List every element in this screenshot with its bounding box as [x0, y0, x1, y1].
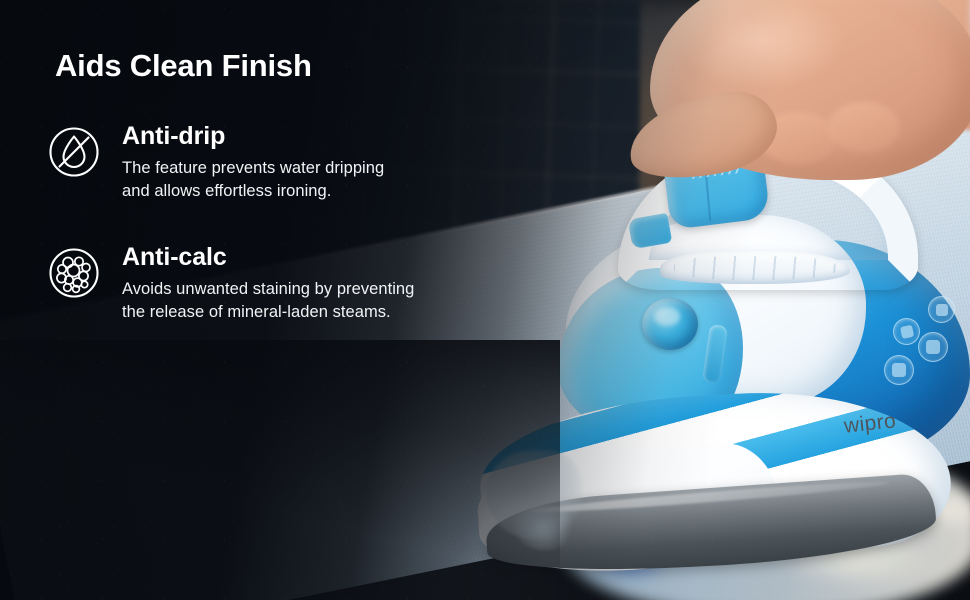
feature-title: Anti-calc [122, 243, 414, 271]
feature-text: Anti-calc Avoids unwanted staining by pr… [122, 243, 414, 325]
feature-item-anti-drip: Anti-drip The feature prevents water dri… [48, 122, 384, 204]
product-feature-banner: wipro Aids Clean Finish [0, 0, 970, 600]
feature-item-anti-calc: Anti-calc Avoids unwanted staining by pr… [48, 243, 414, 325]
feature-text: Anti-drip The feature prevents water dri… [122, 122, 384, 204]
feature-description: Avoids unwanted staining by preventing t… [122, 278, 414, 325]
feature-description: The feature prevents water dripping and … [122, 157, 384, 204]
limescale-bubbles-icon [48, 247, 100, 299]
feature-text-panel: Aids Clean Finish Anti-drip The feature … [0, 0, 560, 600]
no-water-drop-icon [48, 126, 100, 178]
page-title: Aids Clean Finish [55, 48, 312, 84]
feature-title: Anti-drip [122, 122, 384, 150]
